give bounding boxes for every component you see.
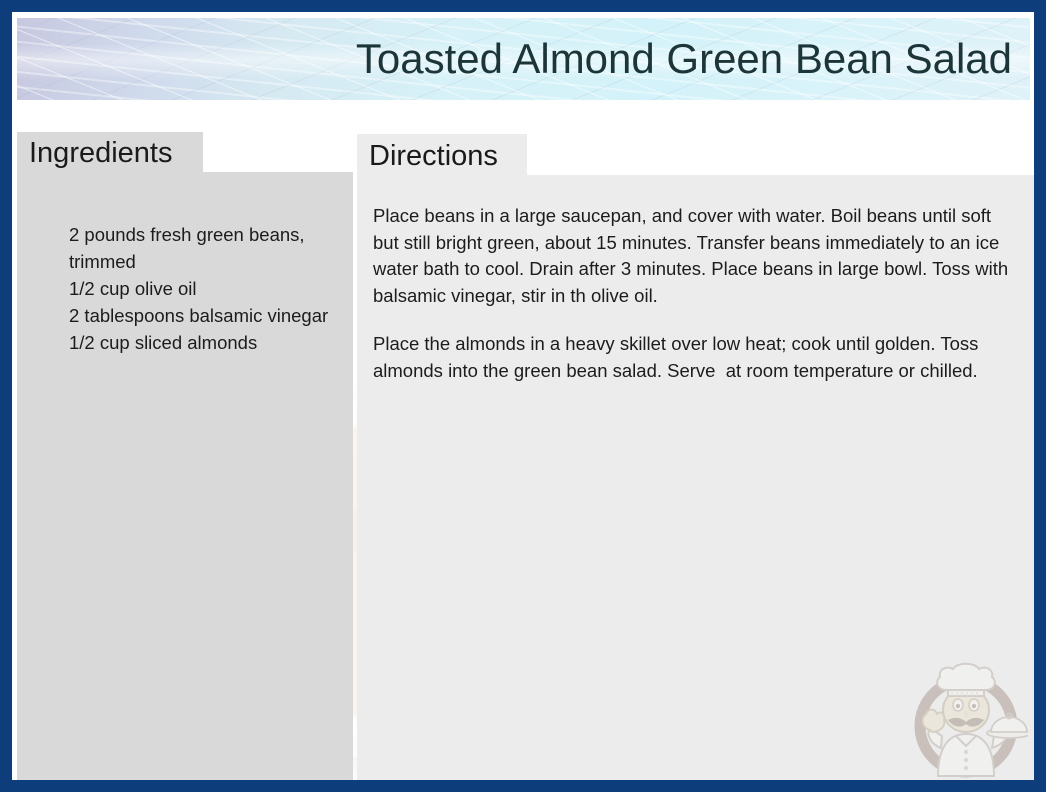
list-item: 1/2 cup olive oil <box>69 275 339 302</box>
directions-panel: Place beans in a large saucepan, and cov… <box>357 175 1034 780</box>
slide-canvas: Toasted Almond Green Bean Salad 2 pounds… <box>12 12 1034 780</box>
list-item: 2 tablespoons balsamic vinegar <box>69 302 339 329</box>
directions-body: Place beans in a large saucepan, and cov… <box>373 203 1012 406</box>
ingredients-panel: 2 pounds fresh green beans, trimmed 1/2 … <box>17 172 353 780</box>
list-item: 2 pounds fresh green beans, trimmed <box>69 221 339 275</box>
ingredients-list: 2 pounds fresh green beans, trimmed 1/2 … <box>29 221 339 356</box>
recipe-slide: Toasted Almond Green Bean Salad 2 pounds… <box>0 0 1046 792</box>
directions-paragraph: Place beans in a large saucepan, and cov… <box>373 203 1012 309</box>
list-item: 1/2 cup sliced almonds <box>69 329 339 356</box>
directions-heading-label: Directions <box>369 142 498 171</box>
title-banner: Toasted Almond Green Bean Salad <box>17 18 1030 100</box>
page-title: Toasted Almond Green Bean Salad <box>77 36 1012 82</box>
ingredients-heading: Ingredients <box>17 132 203 174</box>
ingredients-heading-label: Ingredients <box>29 139 173 168</box>
directions-heading: Directions <box>357 134 527 178</box>
directions-paragraph: Place the almonds in a heavy skillet ove… <box>373 331 1012 384</box>
